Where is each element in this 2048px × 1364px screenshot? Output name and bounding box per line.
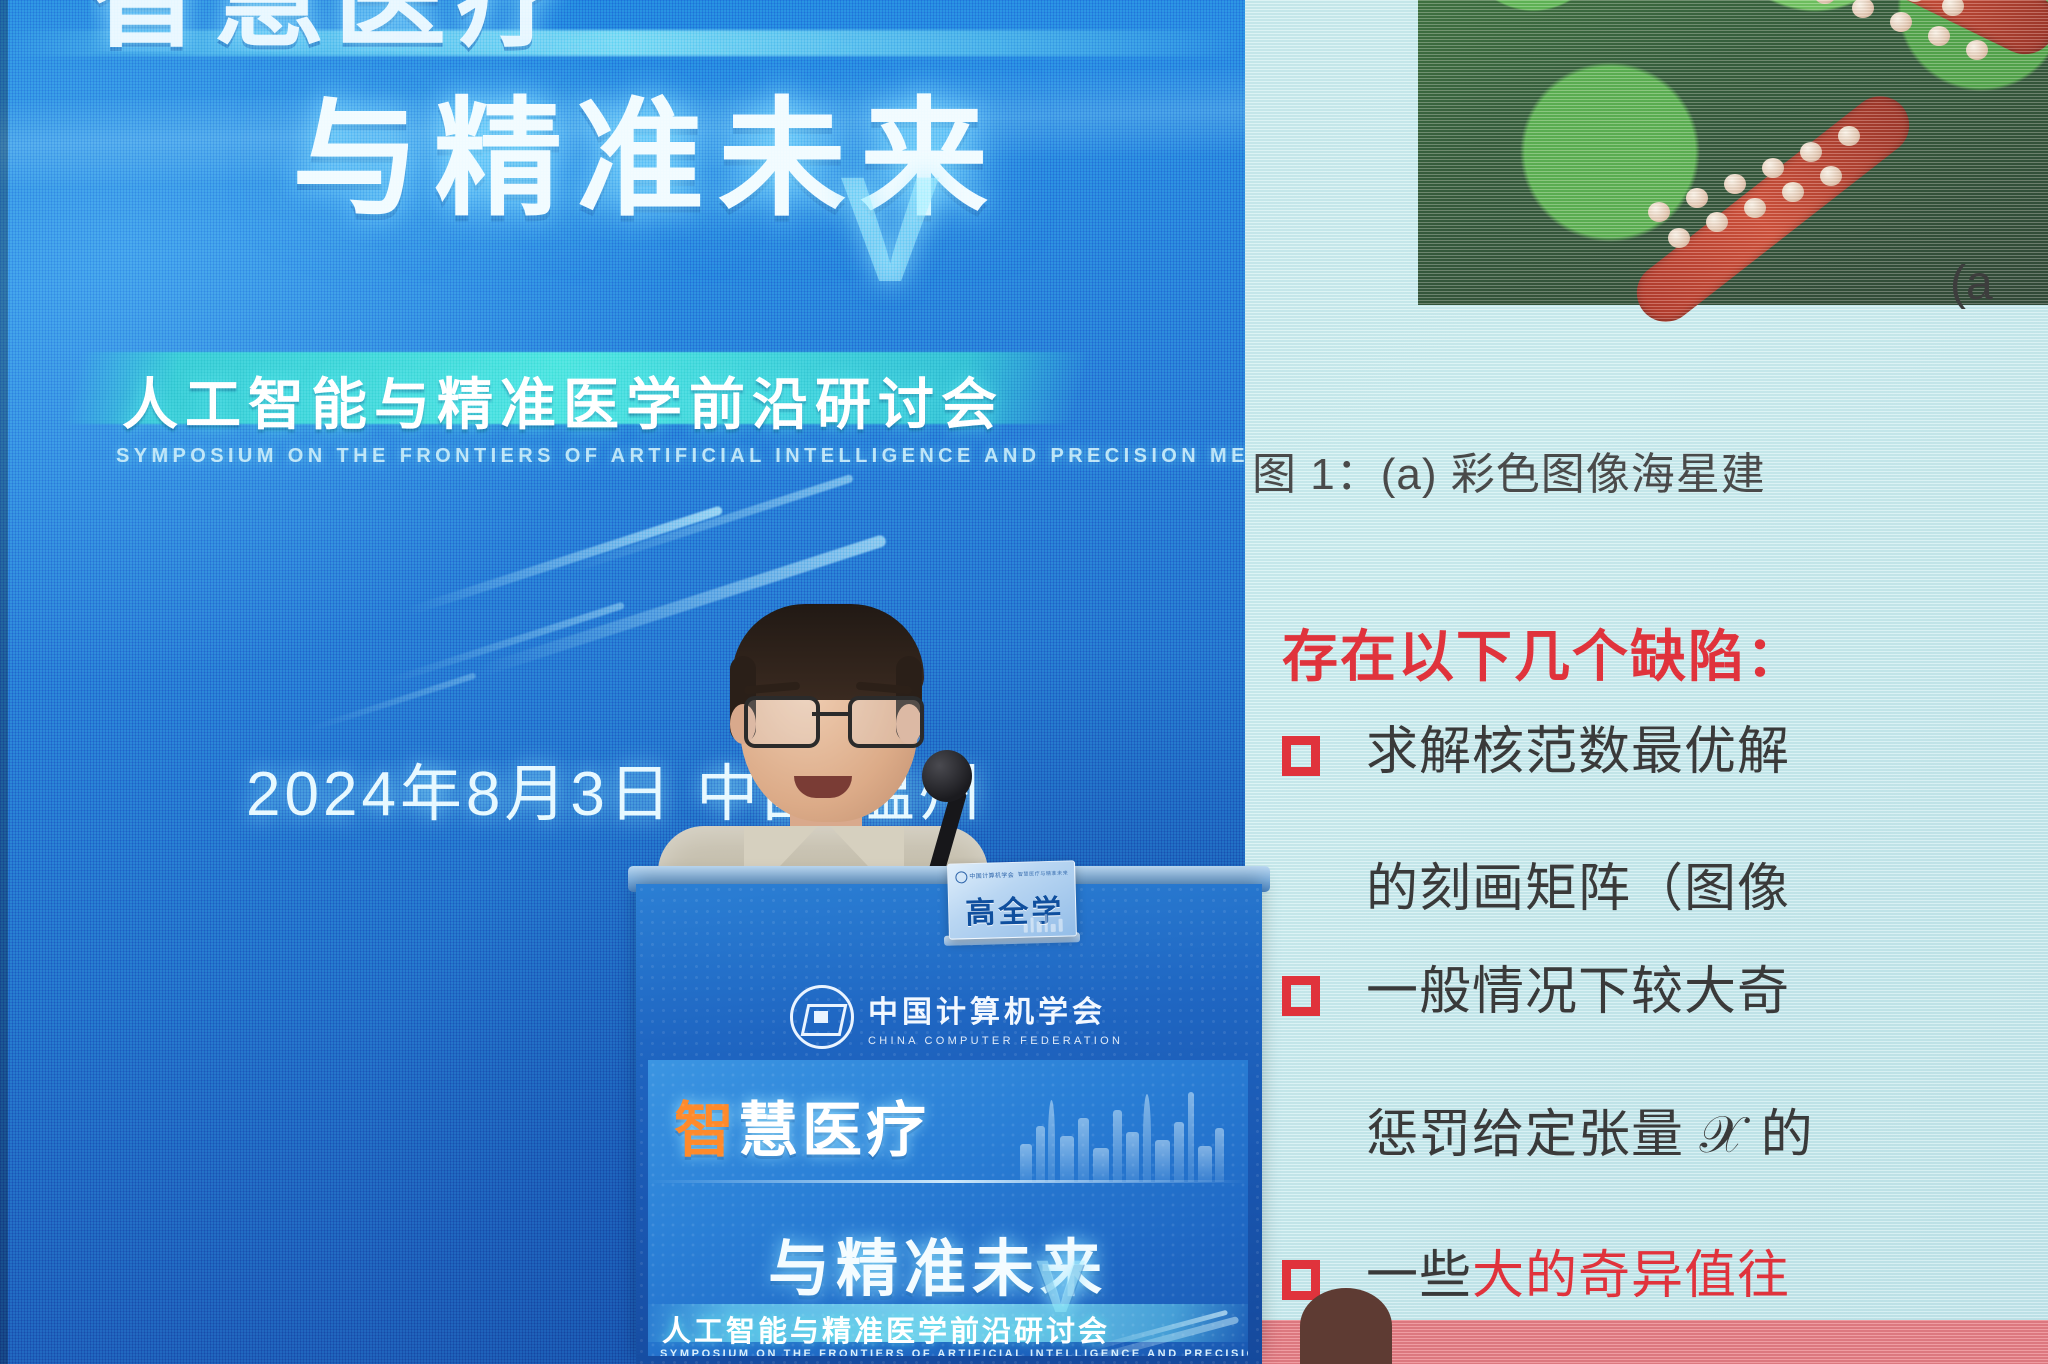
ccf-logo-icon bbox=[790, 985, 854, 1049]
eyeglasses-icon bbox=[744, 696, 916, 742]
podium-panel-title-2: 与精准未来 V bbox=[768, 1218, 1108, 1308]
bullet-marker-icon bbox=[1282, 1260, 1320, 1300]
bullet-2-math-symbol: 𝒳 bbox=[1699, 1106, 1745, 1164]
podium-panel-title-1-rest: 慧医疗 bbox=[738, 1097, 930, 1164]
bullet-marker-icon bbox=[1282, 976, 1320, 1016]
backdrop-title-vmark: V bbox=[840, 154, 940, 304]
photo-scene: 智慧医疗 与精准未来 V 人工智能与精准医学前沿研讨会 SYMPOSIUM ON… bbox=[0, 0, 2048, 1364]
decor-streak bbox=[385, 602, 625, 686]
podium-front-panel: 智慧医疗 与精准未来 V 人工智能与精准医学前沿研讨会 SYMPOSIUM ON… bbox=[648, 1060, 1248, 1356]
nameplate-skyline-icon bbox=[1021, 912, 1068, 933]
podium-panel-divider bbox=[648, 1180, 1248, 1183]
left-edge-shadow bbox=[0, 0, 8, 1364]
figure-subfigure-label: (a bbox=[1950, 256, 1993, 311]
bullet-2-line-2: 惩罚给定张量 𝒳 的 bbox=[1366, 1092, 1814, 1167]
bullet-2-red-suffix: 的 bbox=[1761, 1106, 1814, 1164]
bullet-2-line-1: 一般情况下较大奇 bbox=[1366, 962, 1790, 1022]
podium-panel-subtitle-cn: 人工智能与精准医学前沿研讨会 bbox=[662, 1308, 1110, 1350]
bullet-1-line-2: 的刻画矩阵（图像 bbox=[1366, 846, 1790, 921]
podium-panel-title-1-accent: 智 bbox=[674, 1097, 738, 1164]
nameplate-corner-text: 智慧医疗与精准未来 bbox=[1018, 870, 1069, 878]
backdrop-subtitle-cn: 人工智能与精准医学前沿研讨会 bbox=[122, 360, 1004, 441]
bullet-3-gray-part: 一些 bbox=[1366, 1247, 1472, 1305]
podium-org-name-cn: 中国计算机学会 bbox=[868, 987, 1123, 1031]
audience-head-silhouette bbox=[1300, 1288, 1392, 1364]
slide-bullet-2: 一般情况下较大奇 bbox=[1282, 962, 1790, 1022]
backdrop-title: 与精准未来 V bbox=[292, 96, 1002, 224]
microphone-icon bbox=[922, 750, 972, 802]
backdrop-top-headline: 智慧医疗 bbox=[90, 0, 1190, 52]
slide-heading: 存在以下几个缺陷： bbox=[1282, 612, 1804, 693]
eyeglass-bridge bbox=[812, 712, 848, 716]
podium-panel-subtitle-en: SYMPOSIUM ON THE FRONTIERS OF ARTIFICIAL… bbox=[660, 1348, 1248, 1356]
speaker-nameplate: 中国计算机学会 智慧医疗与精准未来 高全学 bbox=[947, 860, 1077, 939]
bullet-2-red-prefix: 惩罚给定张量 bbox=[1366, 1106, 1684, 1164]
eyeglass-lens bbox=[848, 696, 924, 748]
city-skyline-icon bbox=[1016, 1086, 1226, 1182]
bullet-marker-icon bbox=[1282, 736, 1320, 776]
eyeglass-lens bbox=[744, 696, 820, 748]
bullet-1-line-1: 求解核范数最优解 bbox=[1366, 722, 1790, 782]
starfish-arm bbox=[1770, 0, 2048, 65]
podium-org-logo: 中国计算机学会 CHINA COMPUTER FEDERATION bbox=[790, 985, 1123, 1049]
backdrop-top-headline-text: 智慧医疗 bbox=[90, 0, 1190, 52]
slide-bullet-1: 求解核范数最优解 bbox=[1282, 722, 1790, 782]
nameplate-logo-icon bbox=[955, 871, 967, 883]
figure-caption: 图 1：(a) 彩色图像海星建 bbox=[1252, 438, 1766, 502]
backdrop-subtitle-en: SYMPOSIUM ON THE FRONTIERS OF ARTIFICIAL… bbox=[116, 445, 1245, 468]
bullet-3-line-1: 一些大的奇异值往 bbox=[1366, 1246, 1790, 1306]
nameplate-org-short: 中国计算机学会 bbox=[969, 870, 1014, 880]
bullet-3-red-part: 大的奇异值往 bbox=[1472, 1247, 1790, 1305]
podium-org-name-en: CHINA COMPUTER FEDERATION bbox=[868, 1035, 1123, 1047]
podium-panel-title-1: 智慧医疗 bbox=[674, 1082, 930, 1169]
